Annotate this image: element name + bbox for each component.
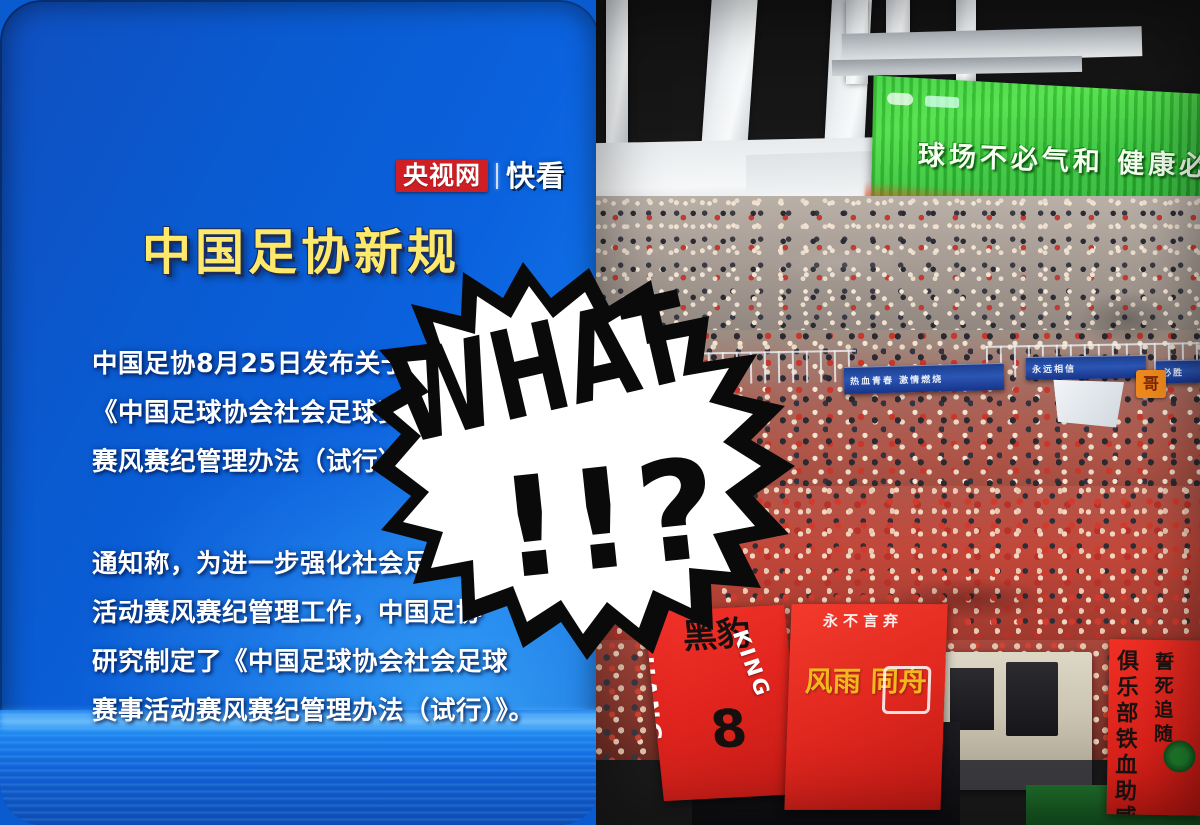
paragraph-line: 赛事活动赛风赛纪管理办法（试行）》。 xyxy=(92,687,592,736)
stadium-crowd-photo: 球场不必气和 健康必须仁 仁和 可同精彩一起 热血青春 激情燃烧 永远相信 必胜… xyxy=(596,0,1200,825)
flag-club-seal-icon xyxy=(1163,740,1196,773)
banner-sponsor-mark-icon xyxy=(925,95,959,108)
banner-sponsor-logo-icon xyxy=(887,92,913,105)
paragraph-line: 通知称，为进一步强化社会足球赛事 xyxy=(92,540,592,589)
flag-top-text: 永不言弃 xyxy=(823,610,904,631)
flag-number: 8 xyxy=(708,703,750,757)
paragraph-line: 《中国足球协会社会足球赛事 xyxy=(92,389,592,438)
crowd-banner-text: 热血青春 激情燃烧 xyxy=(850,372,943,387)
logo-divider xyxy=(496,163,498,189)
supporter-flag-gold: 永不言弃 风雨 同舟 xyxy=(784,604,947,810)
cctv-logo-lockup: 央视网 快看 xyxy=(396,160,566,192)
crowd-barrier-railing xyxy=(596,350,856,387)
paragraph-line: 中国足协8月25日发布关于 xyxy=(92,340,592,389)
pitchside-vehicle xyxy=(940,652,1092,790)
crowd-orange-sign-text: 哥 xyxy=(1136,370,1166,398)
paragraph-line: 活动赛风赛纪管理工作，中国足协 xyxy=(92,589,592,638)
paragraph-line: 赛风赛纪管理办法（试行） xyxy=(92,438,592,487)
crowd-tier-upper xyxy=(596,196,1200,346)
cctv-network-label: 央视网 xyxy=(403,163,481,188)
crowd-orange-sign: 哥 xyxy=(1136,370,1166,398)
supporter-flag-jiang: 黑豹 JIANG KING 8 xyxy=(644,605,804,801)
body-paragraph-2: 通知称，为进一步强化社会足球赛事 活动赛风赛纪管理工作，中国足协 研究制定了《中… xyxy=(92,540,592,736)
green-banner-text: 球场不必气和 健康必须仁 xyxy=(918,133,1200,186)
cctv-network-badge: 央视网 xyxy=(396,160,488,192)
flag-latin-right-text: KING xyxy=(728,627,776,702)
flag-club-line-2: 誓死追随 xyxy=(1154,650,1180,746)
flag-emblem-icon xyxy=(882,666,932,714)
supporter-flag-club: 俱乐部铁血助威团 誓死追随 xyxy=(1106,639,1200,816)
vehicle-window xyxy=(1006,662,1058,736)
crowd-banner-text: 永远相信 xyxy=(1032,362,1076,376)
cctv-channel-label: 快看 xyxy=(506,162,566,191)
flag-club-line-1: 俱乐部铁血助威团 xyxy=(1114,649,1144,816)
body-paragraph-1: 中国足协8月25日发布关于 《中国足球协会社会足球赛事 赛风赛纪管理办法（试行） xyxy=(92,340,592,487)
vehicle-window xyxy=(950,668,994,730)
stadium-pillar xyxy=(606,0,628,160)
crowd-banner-blue: 热血青春 激情燃烧 xyxy=(844,363,1005,394)
page-title: 中国足协新规 xyxy=(142,228,460,277)
paragraph-line: 研究制定了《中国足球协会社会足球 xyxy=(92,638,592,687)
blue-info-panel: 央视网 快看 中国足协新规 中国足协8月25日发布关于 《中国足球协会社会足球赛… xyxy=(0,0,600,825)
crowd-banner-blue: 永远相信 xyxy=(1026,355,1146,380)
news-card-image: 央视网 快看 中国足协新规 中国足协8月25日发布关于 《中国足球协会社会足球赛… xyxy=(0,0,1200,825)
